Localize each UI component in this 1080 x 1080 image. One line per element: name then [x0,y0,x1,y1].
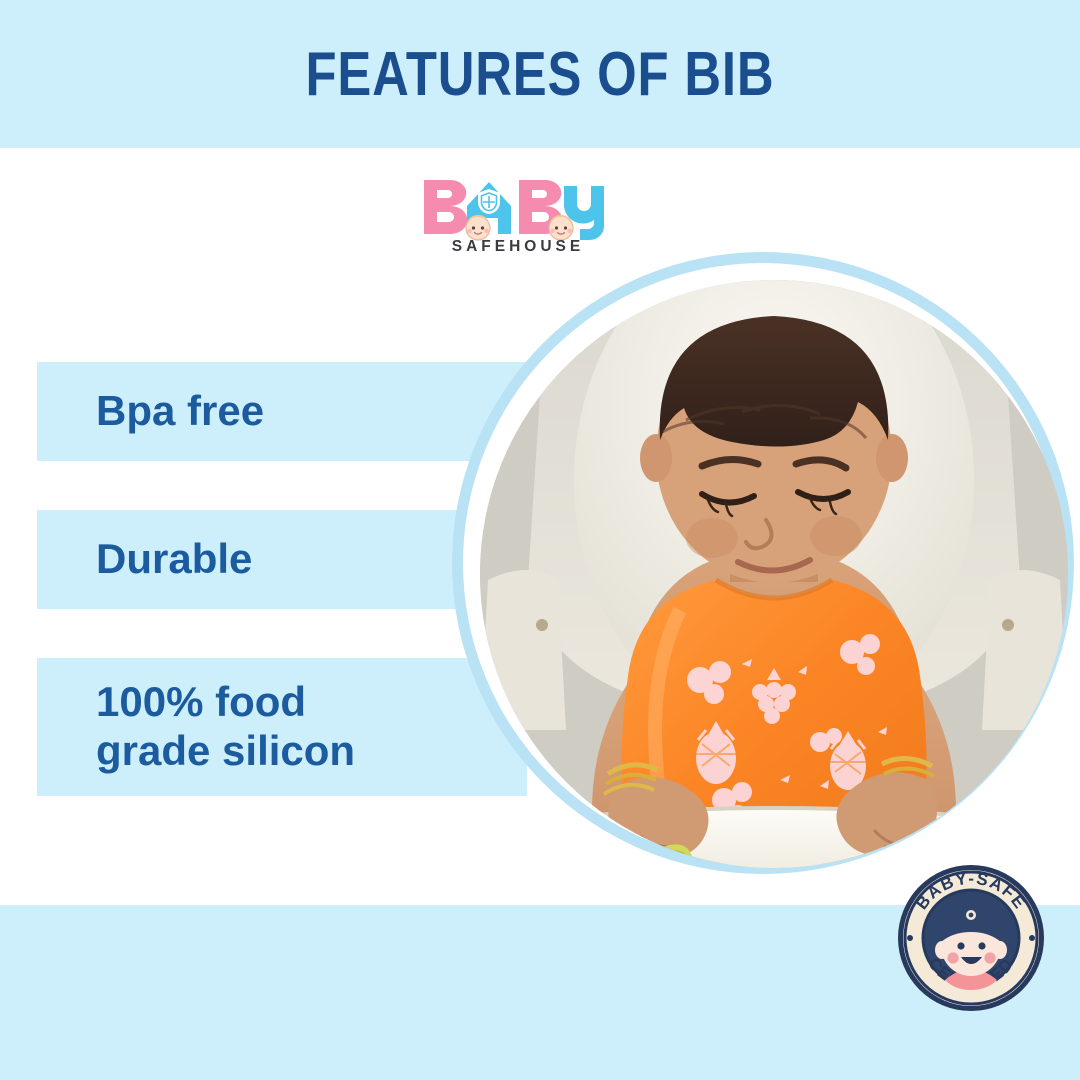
logo-subtitle: SAFEHOUSE [418,238,618,256]
logo-wordmark-icon [418,176,618,242]
poster-canvas: FEATURES OF BIB Bpa free Durable 100% fo… [0,0,1080,1080]
feature-band-1: Bpa free [37,362,527,461]
baby-face-icon-1 [466,215,490,240]
feature-band-3: 100% food grade silicon [37,658,527,796]
photo-white-ring [463,263,1063,863]
baby-safe-certified-badge: BABY-SAFE CERTIFIED [895,862,1047,1014]
feature-label-3: 100% food grade silicon [96,678,355,775]
photo-clip [480,280,1068,868]
header-band: FEATURES OF BIB [0,0,1080,148]
brand-logo: SAFEHOUSE [418,176,618,268]
feature-label-2: Durable [96,535,252,584]
page-title: FEATURES OF BIB [306,39,775,110]
baby-face-icon-2 [549,215,573,240]
product-photo-circle [452,252,1074,874]
baby-with-bib-photo [480,280,1068,868]
feature-label-1: Bpa free [96,387,264,436]
